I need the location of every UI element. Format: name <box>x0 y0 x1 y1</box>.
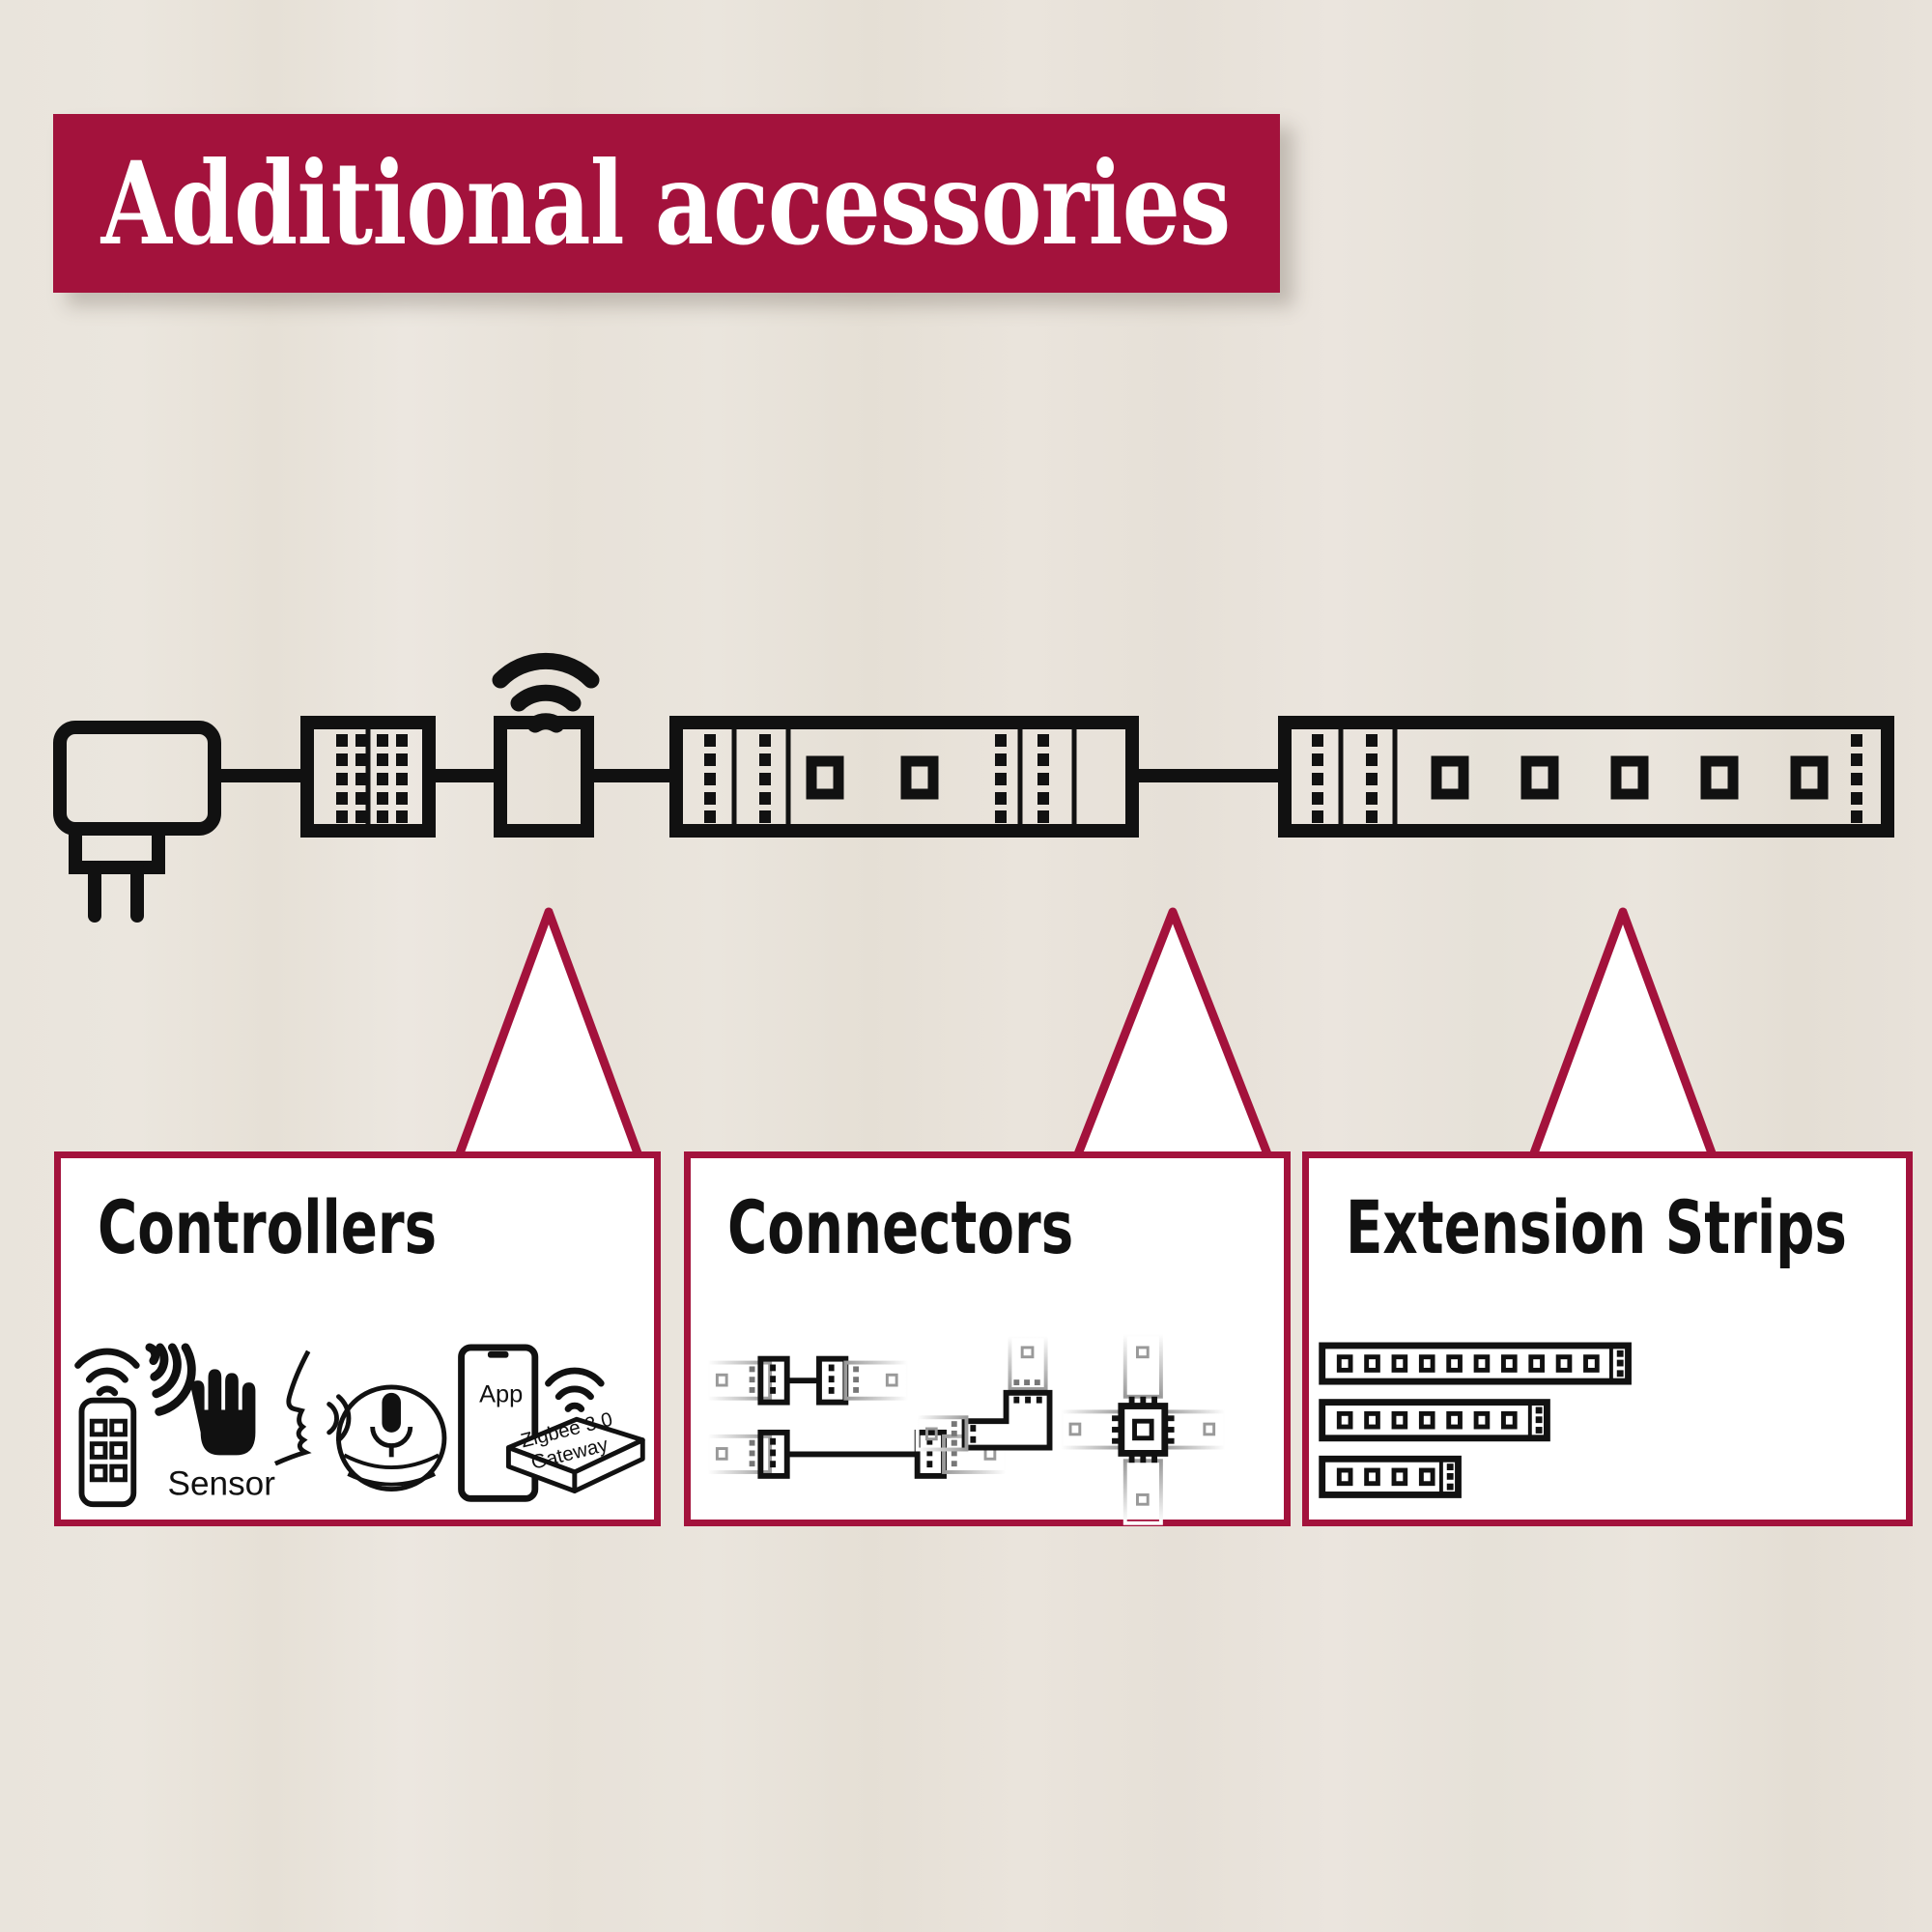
led-strip-short-icon <box>1322 1459 1459 1494</box>
smartphone-app-icon: App <box>462 1348 535 1498</box>
callout-heading-connectors: Connectors <box>727 1191 1073 1264</box>
callout-box-controllers[interactable]: Controllers <box>54 1151 661 1526</box>
short-cable-connector-icon <box>708 1359 908 1403</box>
corner-l-connector-icon <box>918 1336 1050 1449</box>
led-strip-1-icon <box>676 723 1132 831</box>
app-label: App <box>479 1381 523 1408</box>
extension-strips-icon-group <box>1309 1332 1906 1525</box>
sensor-label: Sensor <box>167 1464 275 1502</box>
led-strip-long-icon <box>1322 1346 1629 1381</box>
led-system-schematic <box>0 638 1932 927</box>
callout-box-connectors[interactable]: Connectors <box>684 1151 1291 1526</box>
connector-block-icon <box>307 723 429 831</box>
microphone-icon <box>373 1393 411 1457</box>
callout-heading-extensions: Extension Strips <box>1346 1191 1847 1264</box>
led-strip-2-icon <box>1285 723 1888 831</box>
callout-box-extensions[interactable]: Extension Strips <box>1302 1151 1913 1526</box>
voice-assistant-icon <box>275 1351 444 1490</box>
pointer-extensions <box>1528 912 1718 1169</box>
long-cable-connector-icon <box>708 1433 1007 1476</box>
controllers-icon-group: Sensor App <box>61 1332 654 1525</box>
cross-x-connector-icon <box>1061 1334 1225 1523</box>
remote-control-icon <box>78 1351 137 1504</box>
pointer-controllers <box>454 912 643 1169</box>
hand-icon <box>191 1369 255 1455</box>
callout-heading-controllers: Controllers <box>98 1191 437 1264</box>
motion-sensor-icon <box>150 1348 256 1455</box>
gateway-wifi-icon <box>548 1371 601 1408</box>
pointer-connectors <box>1072 912 1273 1169</box>
power-supply-icon <box>60 727 214 916</box>
page-title-banner: Additional accessories <box>53 114 1280 293</box>
callout-pointers <box>0 898 1932 1169</box>
connectors-icon-group <box>691 1332 1284 1525</box>
wifi-icon <box>500 661 591 724</box>
controller-box-icon <box>500 723 587 831</box>
led-strip-medium-icon <box>1322 1403 1548 1438</box>
page-title: Additional accessories <box>53 147 1230 261</box>
